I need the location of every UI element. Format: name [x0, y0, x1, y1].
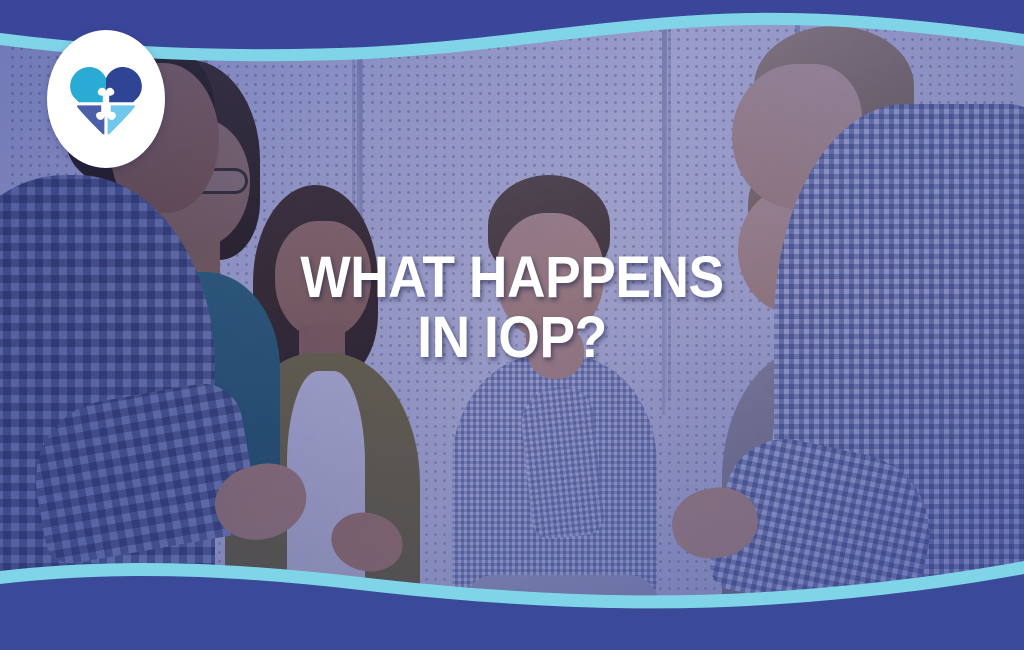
puzzle-piece-top-right [106, 67, 142, 102]
puzzle-piece-bottom-left [77, 105, 104, 134]
page-title: WHAT HAPPENS IN IOP? [41, 248, 983, 369]
puzzle-heart-icon [66, 59, 146, 139]
puzzle-piece-bottom-right [108, 105, 135, 134]
banner: WHAT HAPPENS IN IOP? [0, 0, 1024, 650]
puzzle-heart-logo[interactable] [47, 30, 165, 168]
puzzle-piece-top-left [70, 67, 106, 102]
